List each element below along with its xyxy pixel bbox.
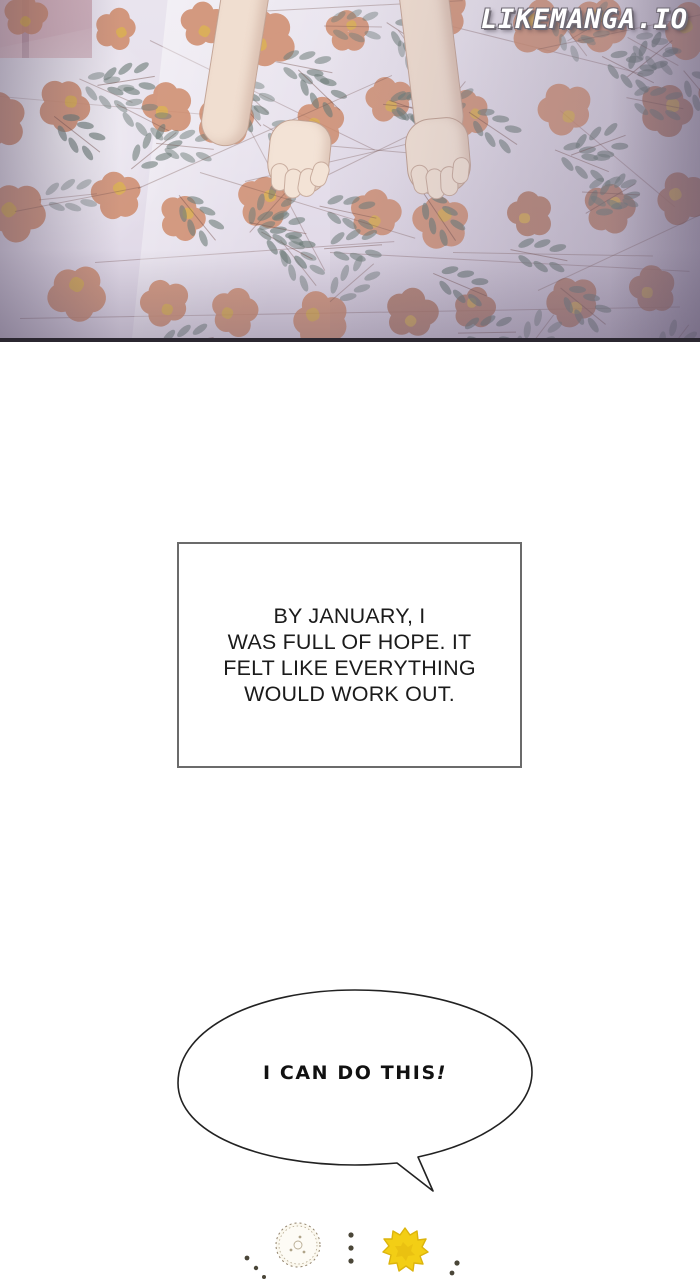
duvet-leaf-sprig <box>324 8 387 43</box>
sparkle-dot <box>450 1271 455 1276</box>
narration-box: BY JANUARY, I WAS FULL OF HOPE. IT FELT … <box>177 542 522 768</box>
left-hand <box>264 117 333 197</box>
speech-bubble-text: I CAN DO THIS! <box>170 1062 540 1084</box>
sparkle-dot <box>348 1258 353 1263</box>
duvet-flower <box>0 90 26 146</box>
cream-flower-icon <box>276 1223 320 1267</box>
webtoon-page: LIKEMANGA.IO BY JANUARY, I WAS FULL OF H… <box>0 0 700 1280</box>
panel-border-bottom <box>0 338 700 342</box>
decor-svg <box>0 1196 700 1280</box>
comic-panel-bedsheet: LIKEMANGA.IO <box>0 0 700 341</box>
speech-bubble-exclamation: ! <box>437 1062 447 1084</box>
yellow-flower-icon <box>383 1228 428 1271</box>
duvet-leaf-sprig <box>457 313 521 341</box>
duvet-flower <box>535 81 593 139</box>
duvet-flower <box>507 191 551 235</box>
sparkle-dot <box>348 1232 353 1237</box>
narration-text: BY JANUARY, I WAS FULL OF HOPE. IT FELT … <box>223 603 476 707</box>
sparkle-dot <box>348 1245 353 1250</box>
speech-bubble-label: I CAN DO THIS <box>263 1062 437 1084</box>
speech-bubble: I CAN DO THIS! <box>170 985 540 1200</box>
sparkle-dot <box>245 1256 250 1261</box>
site-watermark: LIKEMANGA.IO <box>481 4 688 35</box>
duvet-flower <box>135 276 190 331</box>
sparkle-dot <box>262 1275 266 1279</box>
sparkle-dot <box>254 1266 258 1270</box>
sparkle-dot <box>454 1260 459 1265</box>
duvet-flower <box>628 264 676 312</box>
speech-bubble-shape <box>170 985 540 1200</box>
decorative-flowers <box>0 1196 700 1280</box>
right-hand <box>403 115 473 196</box>
